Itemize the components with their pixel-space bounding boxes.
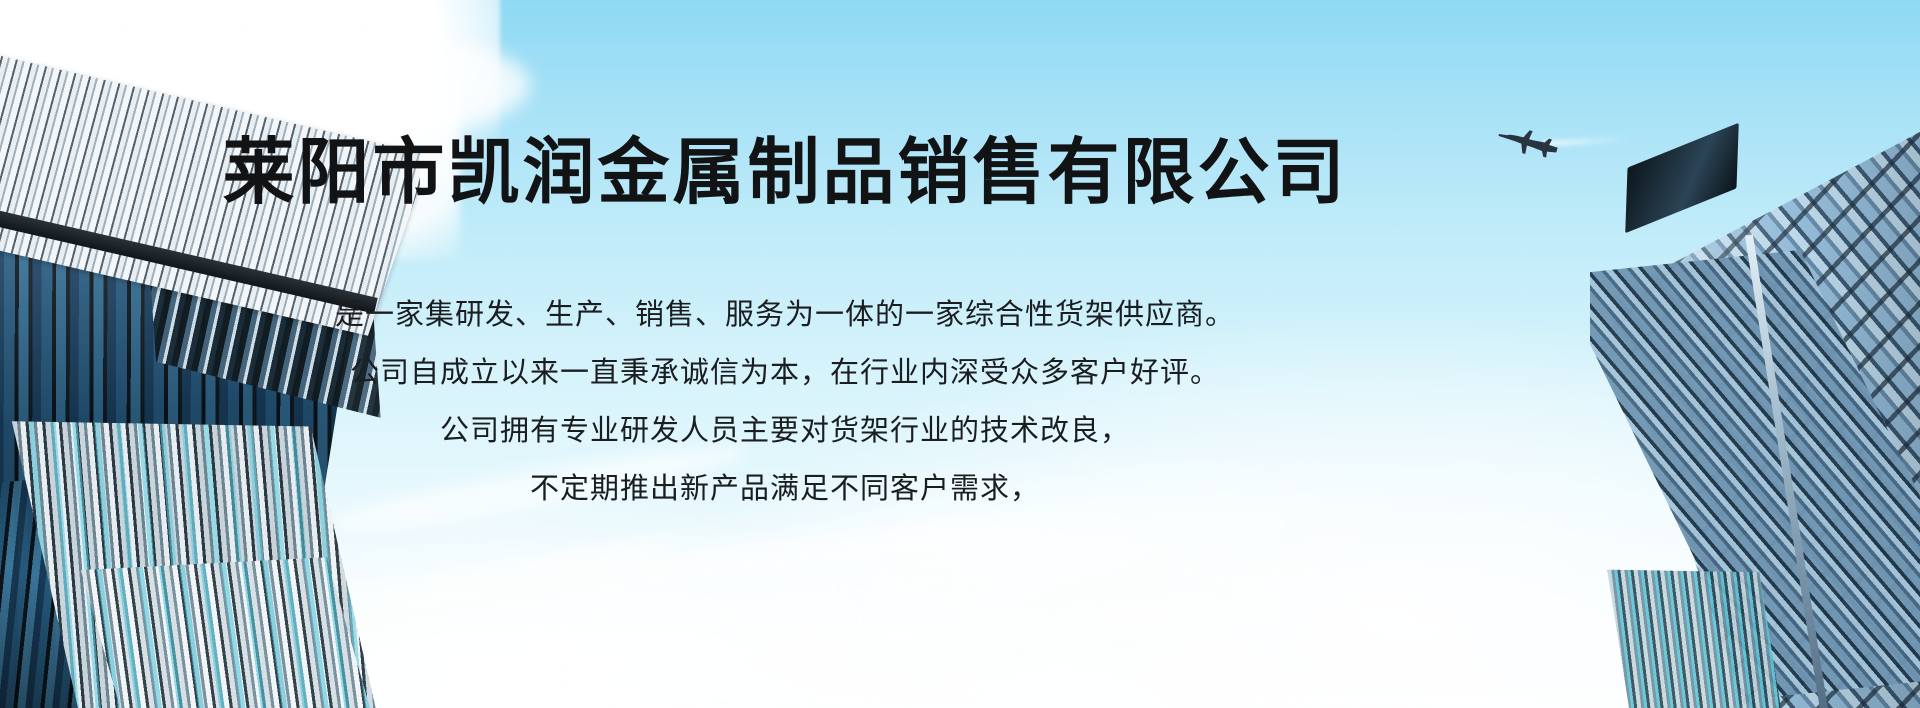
company-hero-banner: 莱阳市凯润金属制品销售有限公司 是一家集研发、生产、销售、服务为一体的一家综合性… xyxy=(0,0,1920,708)
company-description: 是一家集研发、生产、销售、服务为一体的一家综合性货架供应商。 公司自成立以来一直… xyxy=(0,300,1570,532)
right-skyscraper-roof-detail xyxy=(1625,123,1739,234)
description-line-2: 公司自成立以来一直秉承诚信为本，在行业内深受众多客户好评。 xyxy=(0,358,1570,387)
description-line-4: 不定期推出新产品满足不同客户需求， xyxy=(0,474,1570,503)
company-title: 莱阳市凯润金属制品销售有限公司 xyxy=(0,136,1570,208)
right-skyscraper xyxy=(1590,0,1920,708)
right-background-tower xyxy=(1607,570,1783,708)
description-line-1: 是一家集研发、生产、销售、服务为一体的一家综合性货架供应商。 xyxy=(0,300,1570,329)
description-line-3: 公司拥有专业研发人员主要对货架行业的技术改良， xyxy=(0,416,1570,445)
